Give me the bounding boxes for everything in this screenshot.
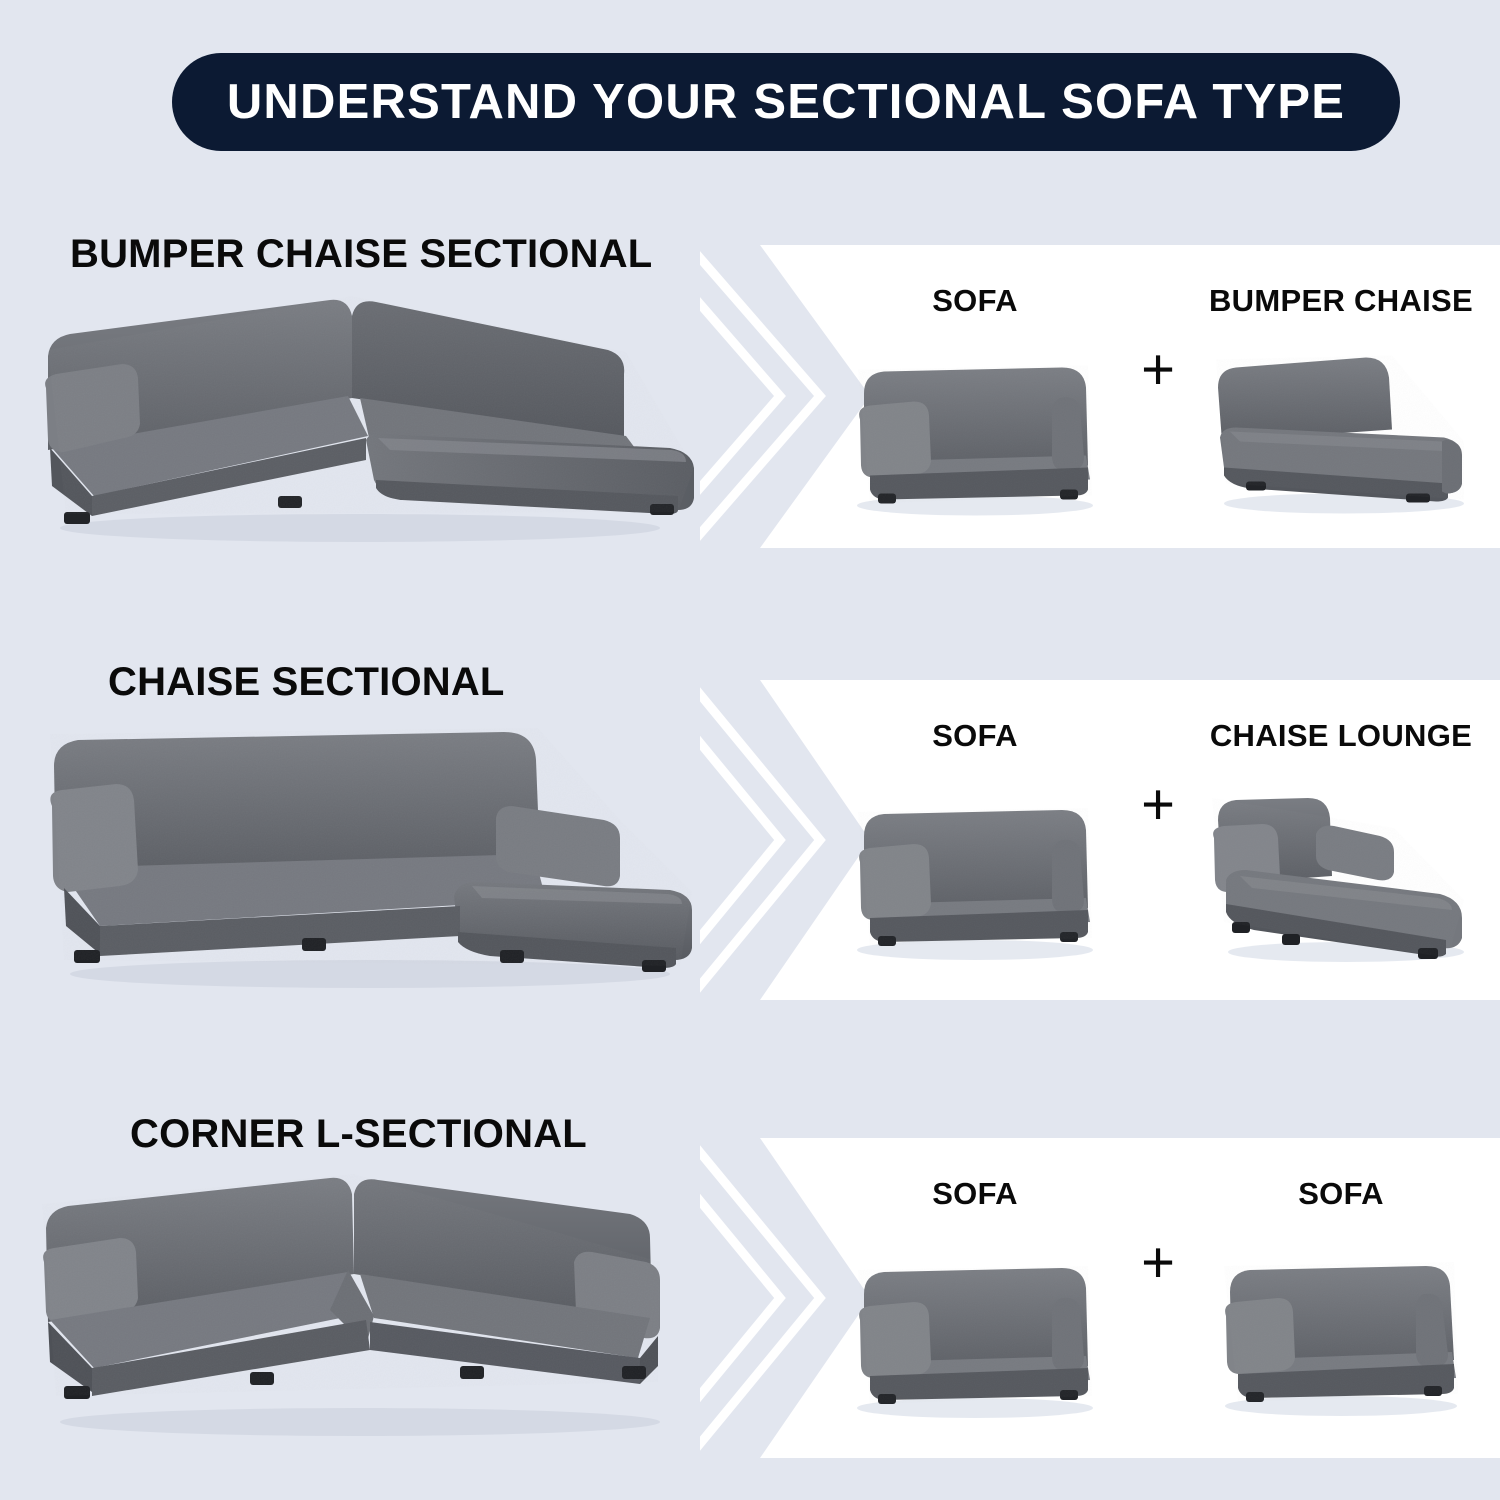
component-label: SOFA [932,718,1018,754]
hero-bumper-chaise-sectional [30,290,710,550]
sofa-three-seat-icon [830,1212,1120,1458]
component-label: SOFA [1298,1176,1384,1212]
bumper-chaise-icon [1196,319,1486,548]
sofa-three-seat-icon [1196,1212,1486,1458]
component-thumbnail [830,754,1120,1000]
components-panel: SOFA [700,1138,1500,1458]
component-thumbnail [830,1212,1120,1458]
component-item: SOFA [830,680,1120,1000]
component-thumbnail [1196,319,1486,548]
chaise-lounge-icon [1196,754,1486,1000]
plus-operator: + [1123,776,1193,834]
section-heading: BUMPER CHAISE SECTIONAL [70,232,652,277]
chaise-sectional-sofa-icon [30,710,710,1000]
component-item: SOFA [1196,1138,1486,1458]
component-thumbnail [1196,1212,1486,1458]
plus-operator: + [1123,1234,1193,1292]
component-item: BUMPER CHAISE [1196,245,1486,548]
sofa-three-seat-icon [830,754,1120,1000]
sofa-three-seat-icon [830,319,1120,548]
component-label: SOFA [932,283,1018,319]
component-item: CHAISE LOUNGE [1196,680,1486,1000]
component-label: CHAISE LOUNGE [1210,718,1472,754]
section-heading: CORNER L-SECTIONAL [130,1112,587,1157]
section-corner-l-sectional: CORNER L-SECTIONAL [0,1090,1500,1460]
section-bumper-chaise-sectional: BUMPER CHAISE SECTIONAL [0,210,1500,560]
bumper-chaise-sectional-sofa-icon [30,290,710,550]
page-title-banner: UNDERSTAND YOUR SECTIONAL SOFA TYPE [172,53,1400,151]
section-chaise-sectional: CHAISE SECTIONAL [0,640,1500,1000]
corner-l-sectional-sofa-icon [30,1170,710,1450]
page-title: UNDERSTAND YOUR SECTIONAL SOFA TYPE [227,74,1345,130]
component-thumbnail [1196,754,1486,1000]
components-panel: SOFA [700,680,1500,1000]
hero-chaise-sectional [30,710,710,1000]
plus-operator: + [1123,341,1193,399]
component-item: SOFA [830,245,1120,548]
hero-corner-l-sectional [30,1170,710,1450]
section-heading: CHAISE SECTIONAL [108,660,505,705]
component-thumbnail [830,319,1120,548]
component-item: SOFA [830,1138,1120,1458]
component-label: SOFA [932,1176,1018,1212]
component-label: BUMPER CHAISE [1209,283,1473,319]
components-panel: SOFA [700,245,1500,548]
